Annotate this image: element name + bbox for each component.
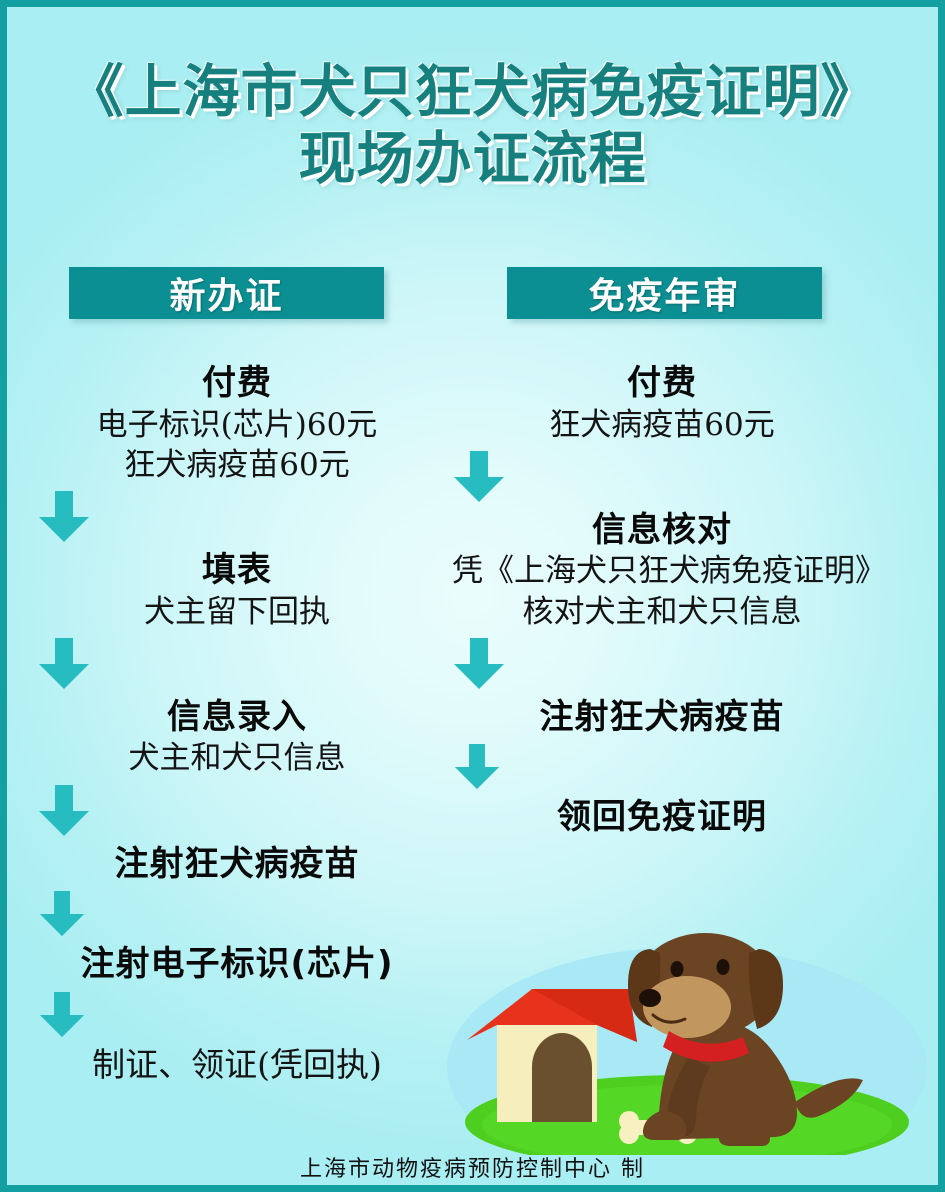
down-arrow-icon <box>37 638 437 690</box>
flow-step: 制证、领证(凭回执) <box>37 1044 437 1087</box>
flow-step-title: 制证、领证(凭回执) <box>37 1044 437 1087</box>
page-title-line-2: 现场办证流程 <box>7 126 938 193</box>
down-arrow-icon <box>37 785 437 837</box>
flow-step-detail: 犬主和犬只信息 <box>37 738 437 778</box>
flow-step-title: 领回免疫证明 <box>452 796 872 839</box>
flow-step: 信息录入 犬主和犬只信息 <box>37 696 437 779</box>
column-header-label: 免疫年审 <box>588 267 740 319</box>
down-arrow-icon <box>37 992 437 1038</box>
flow-step-detail: 狂犬病疫苗60元 <box>452 405 872 445</box>
flow-step: 付费 电子标识(芯片)60元 狂犬病疫苗60元 <box>37 362 437 485</box>
flow-step: 注射狂犬病疫苗 <box>37 843 437 886</box>
flow-step-title: 信息录入 <box>37 696 437 739</box>
flow-step: 填表 犬主留下回执 <box>37 549 437 632</box>
flow-column-new-certificate: 付费 电子标识(芯片)60元 狂犬病疫苗60元 填表 犬主留下回执 <box>37 362 437 1087</box>
page-title-line-1: 《上海市犬只狂犬病免疫证明》 <box>7 59 938 126</box>
poster-canvas: 《上海市犬只狂犬病免疫证明》 现场办证流程 新办证 免疫年审 付费 电子标识(芯… <box>7 7 938 1185</box>
flow-step: 付费 狂犬病疫苗60元 <box>452 362 872 445</box>
flow-step-detail: 核对犬主和犬只信息 <box>452 592 872 632</box>
flow-step: 注射电子标识(芯片) <box>37 943 437 986</box>
dog-and-doghouse-illustration <box>437 907 937 1155</box>
poster-title: 《上海市犬只狂犬病免疫证明》 现场办证流程 <box>7 59 938 194</box>
column-header-annual-review: 免疫年审 <box>507 267 822 319</box>
flow-step-title: 填表 <box>37 549 437 592</box>
flow-step: 信息核对 凭《上海犬只狂犬病免疫证明》 核对犬主和犬只信息 <box>452 509 872 632</box>
column-header-label: 新办证 <box>169 267 283 319</box>
flow-column-annual-review: 付费 狂犬病疫苗60元 信息核对 凭《上海犬只狂犬病免疫证明》 核对犬主和犬只信… <box>452 362 872 839</box>
flow-step-title: 信息核对 <box>452 509 872 552</box>
footer-credit-text: 上海市动物疫病预防控制中心 制 <box>300 1157 645 1182</box>
flow-step-title: 注射狂犬病疫苗 <box>452 696 872 739</box>
flow-step-title: 注射电子标识(芯片) <box>37 943 437 986</box>
down-arrow-icon <box>452 638 872 690</box>
flow-step-title: 付费 <box>37 362 437 405</box>
flow-step-detail: 凭《上海犬只狂犬病免疫证明》 <box>452 551 872 591</box>
flow-step-detail: 电子标识(芯片)60元 <box>37 405 437 445</box>
flow-step: 注射狂犬病疫苗 <box>452 696 872 739</box>
flow-step-detail: 犬主留下回执 <box>37 592 437 632</box>
down-arrow-icon <box>452 744 872 790</box>
flow-step-detail: 狂犬病疫苗60元 <box>37 445 437 485</box>
poster-root: 《上海市犬只狂犬病免疫证明》 现场办证流程 新办证 免疫年审 付费 电子标识(芯… <box>0 0 945 1192</box>
column-header-new-certificate: 新办证 <box>69 267 384 319</box>
footer: 上海市动物疫病预防控制中心 制 <box>7 1151 938 1183</box>
down-arrow-icon <box>37 891 437 937</box>
flow-step: 领回免疫证明 <box>452 796 872 839</box>
down-arrow-icon <box>37 491 437 543</box>
flow-step-title: 付费 <box>452 362 872 405</box>
down-arrow-icon <box>452 451 872 503</box>
flow-step-title: 注射狂犬病疫苗 <box>37 843 437 886</box>
